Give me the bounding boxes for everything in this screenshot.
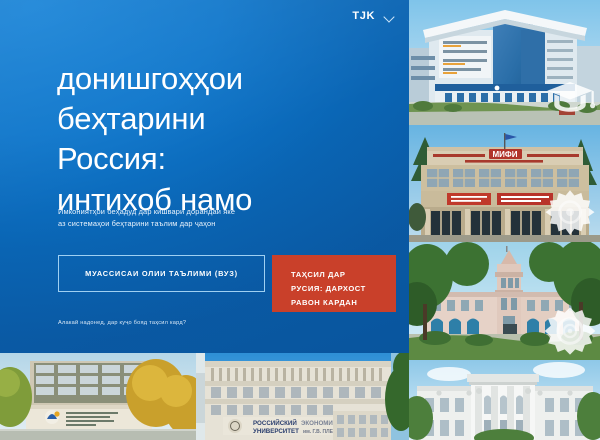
subtitle-line-1: Имкониятҳои беҳадуд дар кишвари дорандаи… — [58, 206, 358, 218]
headline-line-3: Россия: — [57, 139, 387, 179]
hero-panel: TJK донишгоҳҳои беҳтарини Россия: интихо… — [0, 0, 409, 353]
headline-line-2: беҳтарини — [57, 99, 387, 139]
photo-mifi-university: МИФИ — [409, 125, 600, 242]
hero-actions: МУАССИСАИ ОЛИИ ТАЪЛИМИ (ВУЗ) — [58, 255, 265, 292]
language-selector[interactable]: TJK — [352, 10, 395, 22]
page-title: донишгоҳҳои беҳтарини Россия: интихоб на… — [57, 59, 387, 220]
photo-plekhanov-university: РОССИЙСКИЙ ЭКОНОМИЧЕСКИЙ УНИВЕРСИТЕТ им.… — [205, 353, 409, 440]
landing-page: TJK донишгоҳҳои беҳтарини Россия: интихо… — [0, 0, 600, 440]
svg-text:МИФИ: МИФИ — [493, 150, 518, 159]
photo-historic-tower-university — [409, 242, 600, 360]
cta-line-1: ТАҲСИЛ ДАР — [291, 268, 396, 282]
svg-text:РОССИЙСКИЙ: РОССИЙСКИЙ — [253, 419, 297, 427]
select-university-button[interactable]: МУАССИСАИ ОЛИИ ТАЪЛИМИ (ВУЗ) — [58, 255, 265, 292]
photo-classical-white-university — [409, 360, 600, 440]
apply-to-study-button[interactable]: ТАҲСИЛ ДАР РУСИЯ: ДАРХОСТ РАВОН КАРДАН — [272, 255, 396, 312]
cta-line-2: РУСИЯ: ДАРХОСТ — [291, 282, 396, 296]
svg-text:УНИВЕРСИТЕТ: УНИВЕРСИТЕТ — [253, 428, 299, 435]
subtitle-line-2: аз системаҳои беҳтарини таълим дар ҷаҳон — [58, 218, 358, 230]
chevron-down-icon — [384, 13, 395, 20]
photo-modern-glass-university — [409, 0, 600, 125]
hero-subtitle: Имкониятҳои беҳадуд дар кишвари дорандаи… — [58, 206, 358, 230]
photo-modernist-university — [0, 353, 205, 440]
headline-line-1: донишгоҳҳои — [57, 59, 387, 99]
help-choose-link[interactable]: Алакай надонед, дар куҷо бояд таҳсил кар… — [58, 320, 186, 326]
language-code-label: TJK — [352, 10, 375, 22]
cta-line-3: РАВОН КАРДАН — [291, 296, 396, 310]
